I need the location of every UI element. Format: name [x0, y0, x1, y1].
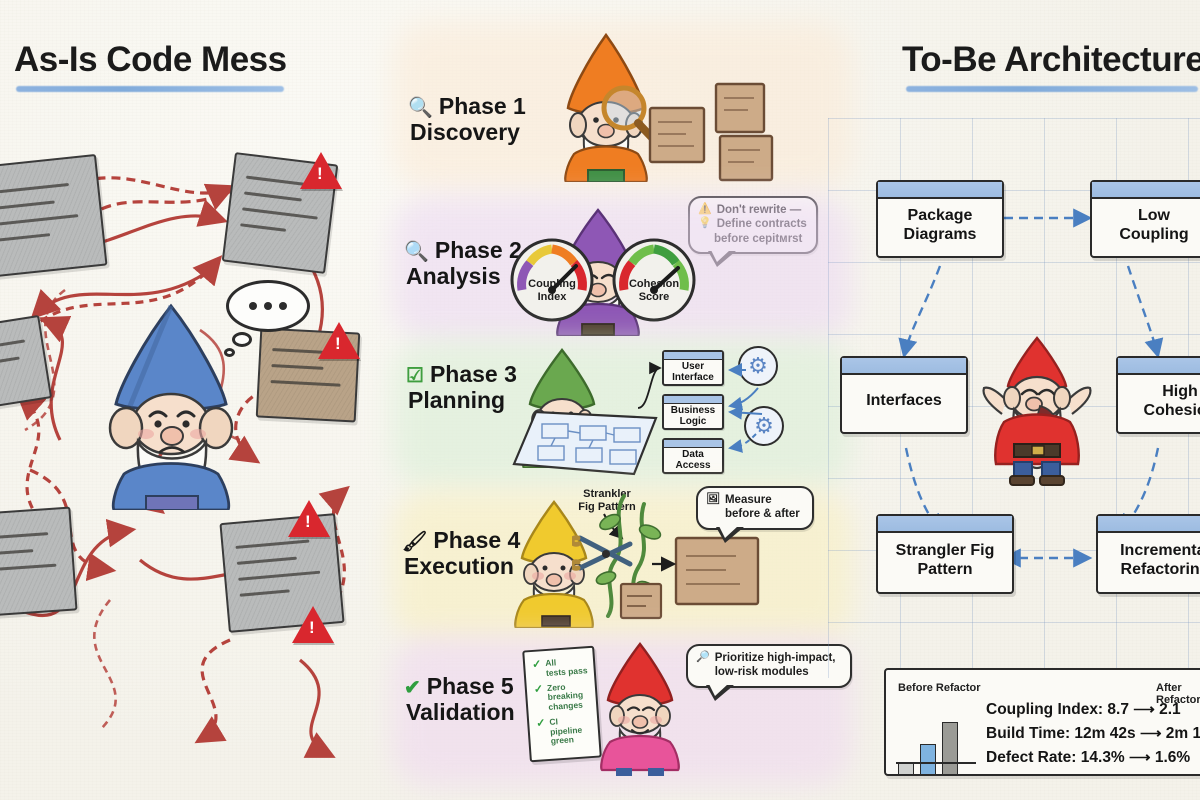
checklist-item: ✓ Zerobreakingchanges [534, 681, 591, 714]
cl-2-l2: green [550, 735, 574, 747]
bar-0 [898, 762, 914, 776]
check-icon: ✓ [536, 718, 547, 748]
bar-1 [920, 744, 936, 776]
uml-box-incremental-refactoring: Incremental Refactoring [1096, 514, 1200, 594]
left-title-underline [16, 86, 284, 92]
gauge-2-label: Cohesion Score [614, 278, 694, 304]
callout-measure: 🖼 Measure before & after [696, 486, 814, 530]
phase-5-label: ✔Phase 5 Validation [404, 674, 515, 726]
metric-2-name: Defect Rate: [986, 749, 1076, 766]
box-5-line2: Refactoring [1120, 561, 1200, 579]
box-3-line1: High [1144, 383, 1200, 401]
confused-blue-gnome [86, 300, 256, 510]
chart-icon: 🖼 [706, 493, 720, 507]
box-3-line2: Cohesion [1144, 402, 1200, 420]
box-0-line2: Diagrams [904, 226, 977, 244]
prioritize-line-1: Prioritize high-impact, [715, 651, 836, 665]
measure-line-2: before & after [725, 507, 800, 521]
as-is-mess-panel [0, 140, 380, 800]
gauge-2-line2: Score [614, 291, 694, 304]
metric-2-after: 1.6% [1155, 749, 1190, 766]
metric-0-name: Coupling Index: [986, 701, 1103, 718]
metric-1-name: Build Time: [986, 725, 1070, 742]
uml-box-low-coupling: Low Coupling [1090, 180, 1200, 258]
metric-0-before: 8.7 [1107, 701, 1129, 718]
metric-1-after: 2m 11s [1166, 725, 1200, 742]
cl-0-l2: tests pass [546, 665, 588, 678]
box-4-line2: Pattern [896, 561, 995, 579]
metrics-bar-chart [898, 722, 958, 776]
cardboard-boxes [646, 74, 786, 184]
gauge-1-line1: Coupling [512, 278, 592, 291]
warning-icon [292, 606, 334, 643]
pink-gnome-validation [588, 642, 692, 776]
phase-1-name: Discovery [410, 120, 526, 146]
uml-box-interfaces: Interfaces [840, 356, 968, 434]
target-box [672, 532, 768, 616]
check-icon: ✓ [532, 659, 543, 679]
execution-arrow [650, 552, 684, 576]
uml-box-high-cohesion: High Cohesion [1116, 356, 1200, 434]
right-title-underline [906, 86, 1198, 92]
metric-row: Defect Rate: 14.3% ⟶ 1.6% [986, 746, 1200, 770]
metrics-comparison-panel: Before Refactor After Refactor Coupling … [884, 668, 1200, 776]
small-box [618, 580, 666, 624]
check-icon: ✔ [404, 677, 421, 699]
box-1-line1: Low [1119, 207, 1188, 225]
warning-icon [288, 500, 330, 537]
phase-5-number: Phase 5 [427, 673, 514, 699]
magnifier-icon: 🔍 [408, 97, 433, 119]
box-5-line1: Incremental [1120, 542, 1200, 560]
measure-line-1: Measure [725, 493, 800, 507]
checklist-item: ✓ Alltests pass [532, 656, 588, 679]
box-1-line2: Coupling [1119, 226, 1188, 244]
planning-connectors [636, 348, 786, 478]
phase-5-name: Validation [406, 700, 515, 726]
uml-box-strangler-fig-pattern: Strangler Fig Pattern [876, 514, 1014, 594]
checklist-item: ✓ CI pipelinegreen [536, 715, 593, 748]
speech-icon: 🔎 [696, 651, 710, 665]
box-2-line1: Interfaces [866, 392, 942, 410]
metrics-rows: Coupling Index: 8.7 ⟶ 2.1 Build Time: 12… [986, 698, 1200, 769]
phase-3-label: ☑Phase 3 Planning [406, 362, 517, 414]
box-4-line1: Strangler Fig [896, 542, 995, 560]
brush-icon: 🖌 [402, 531, 427, 553]
infographic-canvas: As-Is Code Mess To-Be Architecture [0, 0, 1200, 800]
to-be-architecture-panel: Package Diagrams Low Coupling Interfaces… [828, 118, 1200, 678]
code-card [0, 506, 78, 617]
gauge-1-label: Coupling Index [512, 278, 592, 304]
metric-1-before: 12m 42s [1074, 725, 1135, 742]
metric-0-after: 2.1 [1159, 701, 1181, 718]
left-panel-title: As-Is Code Mess [14, 40, 287, 80]
gauge-1-line2: Index [512, 291, 592, 304]
phase-2-number: Phase 2 [435, 237, 522, 263]
phase-1-label: 🔍Phase 1 Discovery [408, 94, 526, 146]
prioritize-line-2: low-risk modules [715, 665, 836, 679]
arrow-icon: ⟶ [1129, 749, 1151, 766]
happy-red-gnome [978, 336, 1096, 486]
metric-row: Coupling Index: 8.7 ⟶ 2.1 [986, 698, 1200, 722]
arrow-icon: ⟶ [1140, 725, 1162, 742]
warning-icon [300, 152, 342, 189]
warning-icon [318, 322, 360, 359]
phase-2-name: Analysis [406, 264, 522, 290]
phase-3-name: Planning [408, 388, 517, 414]
bar-2 [942, 722, 958, 776]
arrow-icon: ⟶ [1133, 701, 1155, 718]
cl-2-l1: CI pipeline [549, 716, 582, 736]
magnifier-icon: 🔍 [404, 241, 429, 263]
checkbox-icon: ☑ [406, 365, 424, 387]
check-icon: ✓ [534, 684, 545, 714]
bar-chart-baseline [896, 762, 976, 764]
box-0-line1: Package [904, 207, 977, 225]
before-refactor-label: Before Refactor [898, 682, 981, 694]
uml-box-package-diagrams: Package Diagrams [876, 180, 1004, 258]
phase-1-number: Phase 1 [439, 93, 526, 119]
cl-1-l3: changes [548, 700, 583, 712]
metric-2-before: 14.3% [1081, 749, 1125, 766]
gauge-2-line1: Cohesion [614, 278, 694, 291]
phase-3-number: Phase 3 [430, 361, 517, 387]
right-panel-title: To-Be Architecture [902, 40, 1200, 80]
code-card [0, 154, 108, 278]
metric-row: Build Time: 12m 42s ⟶ 2m 11s [986, 722, 1200, 746]
phase-2-label: 🔍Phase 2 Analysis [404, 238, 522, 290]
